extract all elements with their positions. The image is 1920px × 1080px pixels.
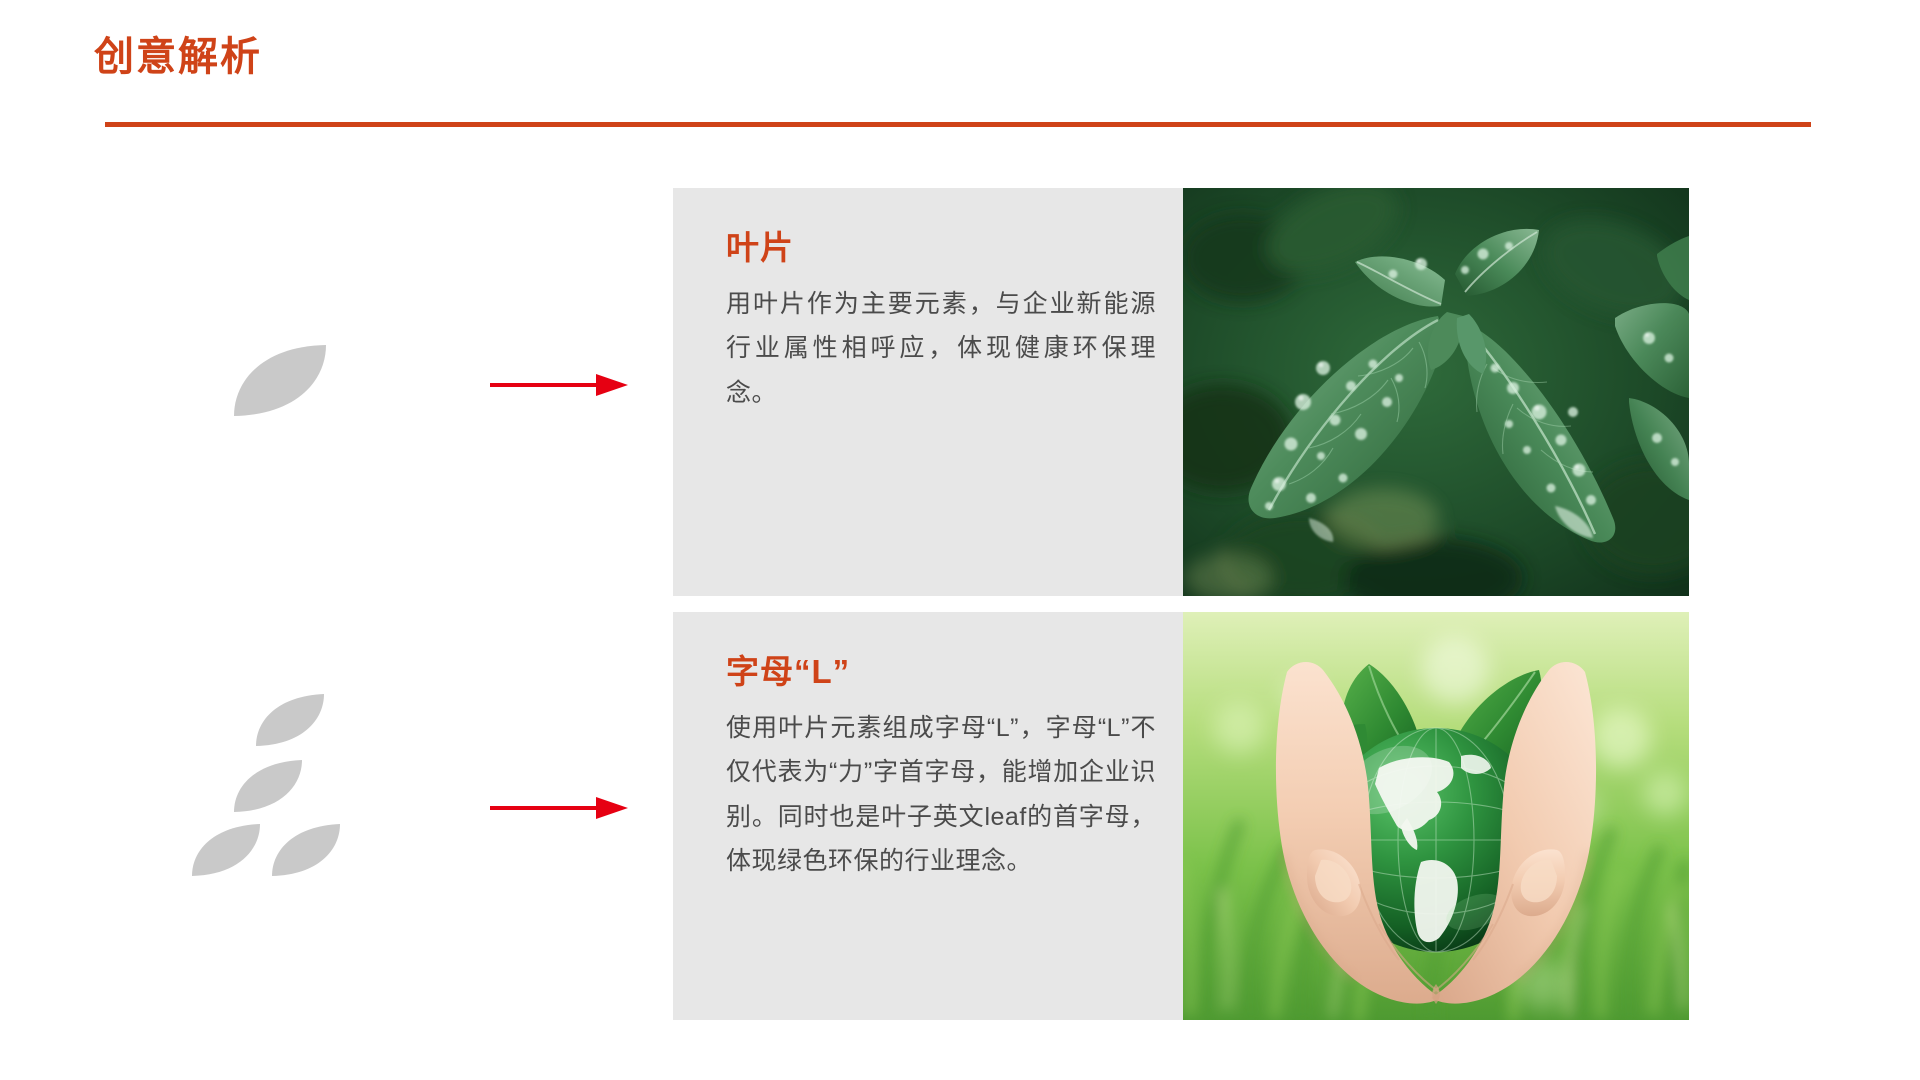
single-leaf-mark (230, 340, 330, 425)
title-divider-rule (105, 122, 1811, 127)
panel-body-letter-l: 使用叶片元素组成字母“L”，字母“L”不仅代表为“力”字首字母，能增加企业识别。… (726, 706, 1156, 884)
content-panel-letter-l: 字母“L” 使用叶片元素组成字母“L”，字母“L”不仅代表为“力”字首字母，能增… (673, 612, 1233, 1020)
letter-l-leaf-mark (190, 690, 350, 885)
page-title: 创意解析 (94, 37, 262, 77)
right-arrow-icon (490, 372, 630, 403)
panel-body-leaf: 用叶片作为主要元素，与企业新能源行业属性相呼应，体现健康环保理念。 (726, 282, 1156, 416)
content-panel-leaf: 叶片 用叶片作为主要元素，与企业新能源行业属性相呼应，体现健康环保理念。 (673, 188, 1233, 596)
panel-heading-letter-l: 字母“L” (726, 652, 1156, 692)
hands-holding-green-globe-photo (1183, 612, 1689, 1020)
panel-heading-leaf: 叶片 (726, 228, 1156, 268)
wet-green-leaves-photo (1183, 188, 1689, 596)
right-arrow-icon (490, 795, 630, 826)
